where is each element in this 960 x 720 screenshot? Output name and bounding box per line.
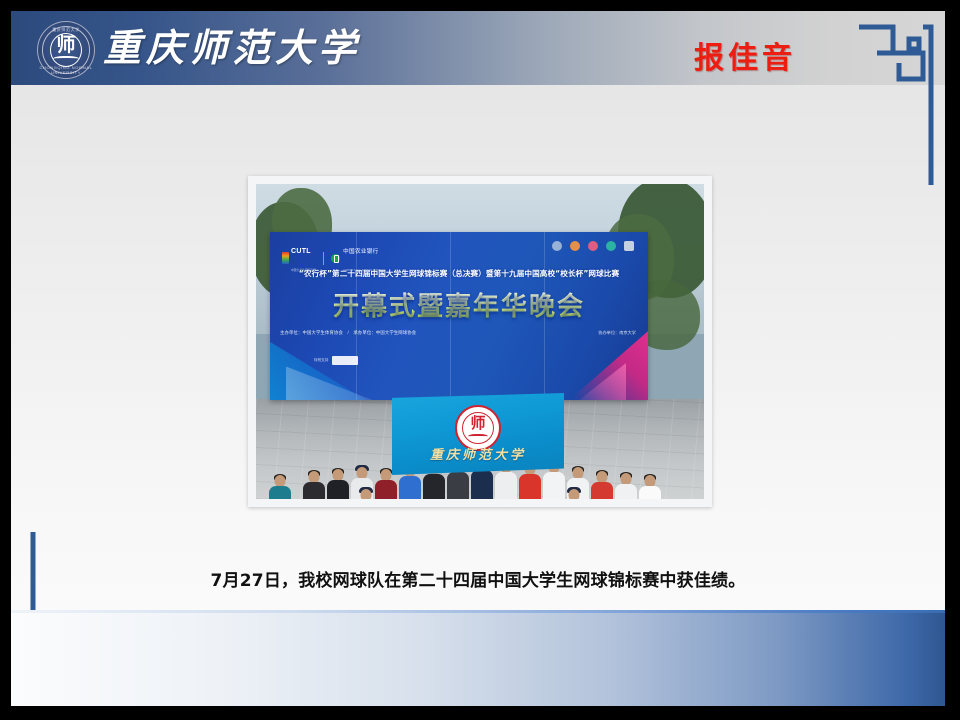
emblem-arc-top-text: 重庆师范大学	[38, 27, 94, 33]
page-title: 报佳音	[694, 33, 796, 77]
partner-logo-icon	[624, 241, 634, 251]
emblem-glyph: 师	[38, 36, 94, 55]
partner-logo-icon	[606, 241, 616, 251]
banner-event-subtitle: “农行杯”第二十四届中国大学生网球锦标赛（总决赛）暨第十九届中国高校“校长杯”网…	[276, 268, 642, 279]
banner-event-title: 开幕式暨嘉年华晚会	[270, 286, 648, 323]
abc-bank-name: 中国农业银行	[343, 249, 378, 255]
bottom-band	[11, 613, 945, 706]
slide: 重庆师范大学 师 CHONGQING NORMAL UNIVERSITY 重庆师…	[11, 11, 945, 706]
partner-logo-icon	[552, 241, 562, 251]
flag-university-name: 重庆师范大学	[392, 444, 564, 463]
banner-partner-logos	[552, 241, 634, 251]
university-name: 重庆师范大学	[103, 19, 361, 77]
corner-ornament-top-right-icon	[859, 17, 941, 185]
banner-co-organizer-text: 协办单位：南京大学	[598, 330, 636, 336]
partner-logo-icon	[588, 241, 598, 251]
slide-header: 重庆师范大学 师 CHONGQING NORMAL UNIVERSITY 重庆师…	[11, 11, 945, 85]
partner-logo-icon	[570, 241, 580, 251]
emblem-book-shape	[53, 56, 79, 63]
emblem-arc-bottom-text: CHONGQING NORMAL UNIVERSITY	[38, 65, 94, 75]
university-emblem-icon: 重庆师范大学 师 CHONGQING NORMAL UNIVERSITY	[37, 21, 95, 79]
photo-frame: CUTL 中国大学生网球联赛 中国农业银行 AGRICULTURAL BANK …	[248, 176, 712, 507]
photo-caption: 7月27日，我校网球队在第二十四届中国大学生网球锦标赛中获佳绩。	[11, 566, 945, 591]
cutl-logo-text: CUTL	[291, 248, 311, 255]
flag-emblem-glyph: 师	[457, 416, 499, 431]
university-flag: 师 重庆师范大学	[392, 393, 564, 475]
tennis-team-group-photo: CUTL 中国大学生网球联赛 中国农业银行 AGRICULTURAL BANK …	[256, 184, 704, 499]
banner-organizer-text: 主办单位：中国大学生体育协会 / 承办单位：中国大学生网球协会	[280, 330, 416, 336]
